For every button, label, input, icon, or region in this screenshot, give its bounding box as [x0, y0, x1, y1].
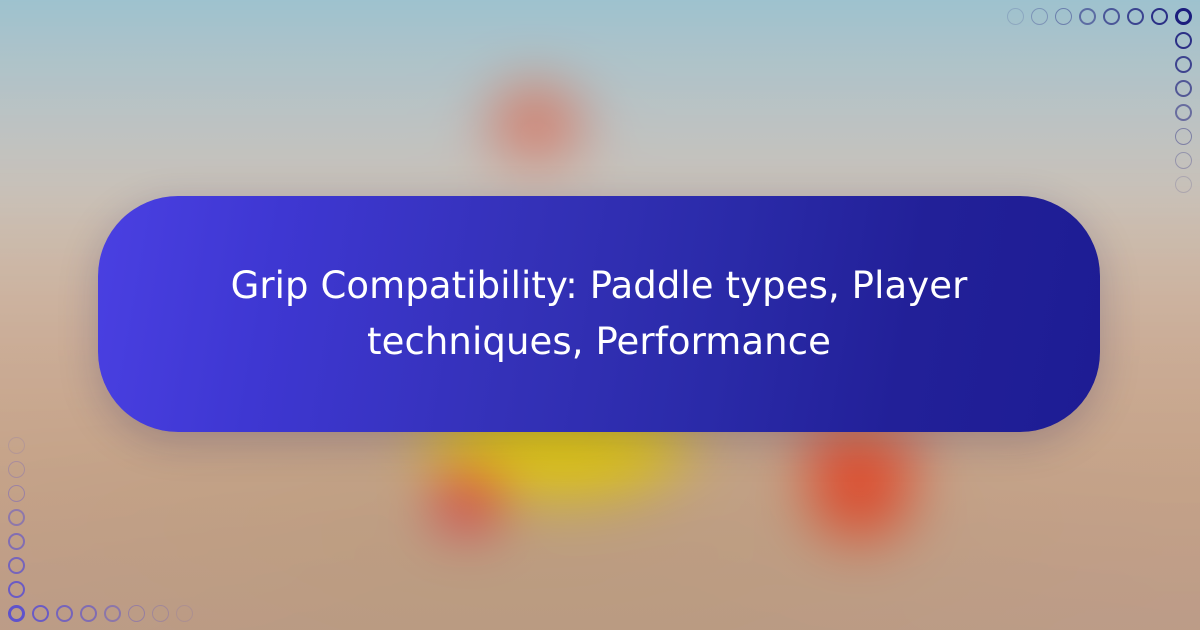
page-title: Grip Compatibility: Paddle types, Player…	[179, 258, 1019, 370]
headline-card: Grip Compatibility: Paddle types, Player…	[98, 196, 1100, 432]
social-card-canvas: Grip Compatibility: Paddle types, Player…	[0, 0, 1200, 630]
